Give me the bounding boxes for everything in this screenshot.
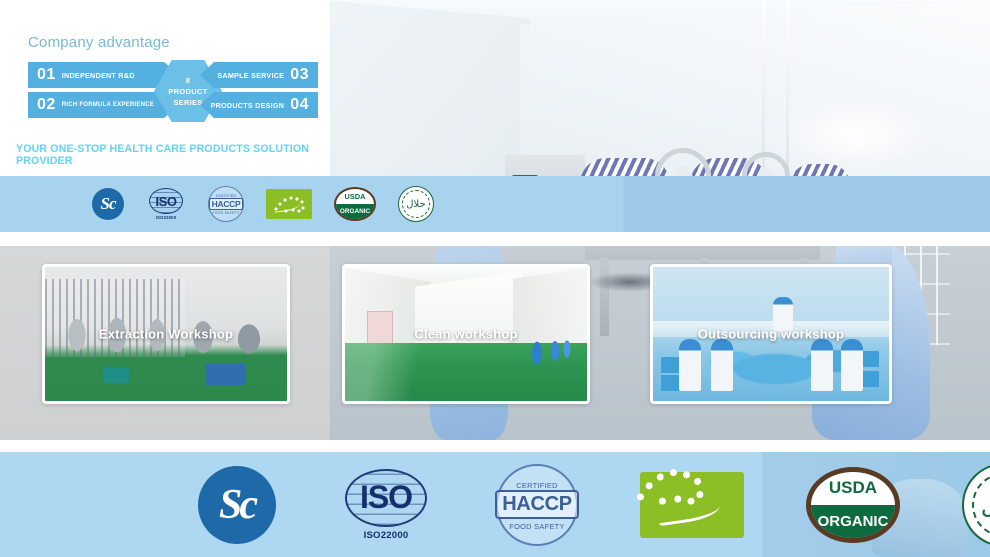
usda-organic-icon-large: USDA ORGANIC (806, 467, 900, 543)
usda-organic-label: ORGANIC (336, 204, 374, 219)
usda-organic-icon: USDA ORGANIC (334, 187, 376, 221)
worker-foreground (711, 339, 733, 391)
sc-logo-text: Sc (198, 466, 276, 544)
hexagon-line-2: PRODUCT (168, 87, 207, 96)
sc-icon: Sc (92, 188, 124, 220)
haccp-label: HACCP (495, 490, 579, 519)
certification-strip-top: Sc ISO ISO22000 CERTIFIED HACCP FOOD SAF… (0, 176, 990, 232)
advantage-label: RICH FORMULA EXPERIENCE (62, 102, 154, 108)
iso-globe: ISO (149, 188, 183, 214)
worker-foreground (679, 339, 701, 391)
section-divider (0, 440, 990, 452)
workshop-caption: Outsourcing workshop (653, 327, 889, 342)
sc-logo-text: Sc (92, 188, 124, 220)
hexagon-line-3: SERIES (173, 98, 202, 107)
halal-icon-large: حلال (962, 463, 990, 547)
haccp-icon-large: CERTIFIED HACCP FOOD SAFETY (496, 464, 578, 546)
extraction-teal-pump (103, 367, 129, 383)
usda-organic-label: ORGANIC (811, 505, 895, 538)
iso-standard: ISO22000 (156, 215, 176, 220)
advantage-number: 01 (37, 66, 56, 84)
iso-icon-large: ISO ISO22000 (338, 469, 434, 541)
advantage-label: INDEPENDENT R&D (62, 71, 135, 80)
workshop-caption: Clean workshop (345, 327, 587, 342)
halal-arabic: حلال (402, 190, 430, 218)
iso-label: ISO (360, 479, 412, 516)
advantage-item-03[interactable]: SAMPLE SERVICE 03 (200, 62, 318, 88)
halal-arabic: حلال (972, 473, 990, 537)
haccp-label: HACCP (209, 198, 244, 210)
halal-icon: حلال (398, 186, 434, 222)
workshop-card-extraction[interactable]: Extraction Workshop (42, 264, 290, 404)
eu-organic-icon (266, 189, 312, 219)
worker-foreground (811, 339, 833, 391)
workshop-caption: Extraction Workshop (45, 327, 287, 342)
company-profile-banner: Company advantage 01 INDEPENDENT R&D 02 … (0, 0, 990, 557)
workshop-card-clean[interactable]: Clean workshop (342, 264, 590, 404)
workshop-gallery: Extraction Workshop Clean workshop (0, 246, 990, 440)
iso-standard: ISO22000 (364, 530, 409, 541)
certification-logo-row: Sc ISO ISO22000 CERTIFIED HACCP FOOD SAF… (0, 452, 990, 557)
extraction-blue-motor (205, 363, 245, 385)
advantage-number: 02 (37, 96, 56, 114)
tagline: YOUR ONE-STOP HEALTH CARE PRODUCTS SOLUT… (16, 143, 330, 167)
advantage-number: 03 (290, 66, 309, 84)
usda-label: USDA (336, 189, 374, 204)
haccp-arc-bottom: FOOD SAFETY (509, 522, 564, 531)
eu-organic-icon-large (640, 472, 744, 538)
page-title: Company advantage (28, 34, 170, 51)
advantage-number: 04 (290, 96, 309, 114)
advantage-label: PRODUCTS DESIGN (211, 101, 285, 110)
haccp-icon: CERTIFIED HACCP FOOD SAFETY (208, 186, 244, 222)
haccp-arc-top: CERTIFIED (516, 481, 558, 490)
sc-icon-large: Sc (198, 466, 276, 544)
advantage-item-01[interactable]: 01 INDEPENDENT R&D (28, 62, 180, 88)
strip-divider (0, 232, 990, 246)
certification-band-bottom: Sc ISO ISO22000 CERTIFIED HACCP FOOD SAF… (0, 452, 990, 557)
iso-label: ISO (156, 194, 177, 209)
advantage-label: SAMPLE SERVICE (217, 71, 284, 80)
ceiling-light-glow (770, 95, 940, 175)
iso-globe: ISO (345, 469, 427, 527)
advantage-diagram: 01 INDEPENDENT R&D 02 RICH FORMULA EXPER… (28, 62, 318, 120)
workshop-card-outsourcing[interactable]: Outsourcing workshop (650, 264, 892, 404)
advantage-item-04[interactable]: PRODUCTS DESIGN 04 (200, 92, 318, 118)
haccp-arc-bottom: FOOD SAFETY (212, 211, 239, 215)
hexagon-line-1: 8 (186, 76, 190, 85)
iso-icon: ISO ISO22000 (146, 188, 186, 220)
worker-foreground (841, 339, 863, 391)
top-section: Company advantage 01 INDEPENDENT R&D 02 … (0, 0, 990, 440)
usda-label: USDA (811, 472, 895, 505)
